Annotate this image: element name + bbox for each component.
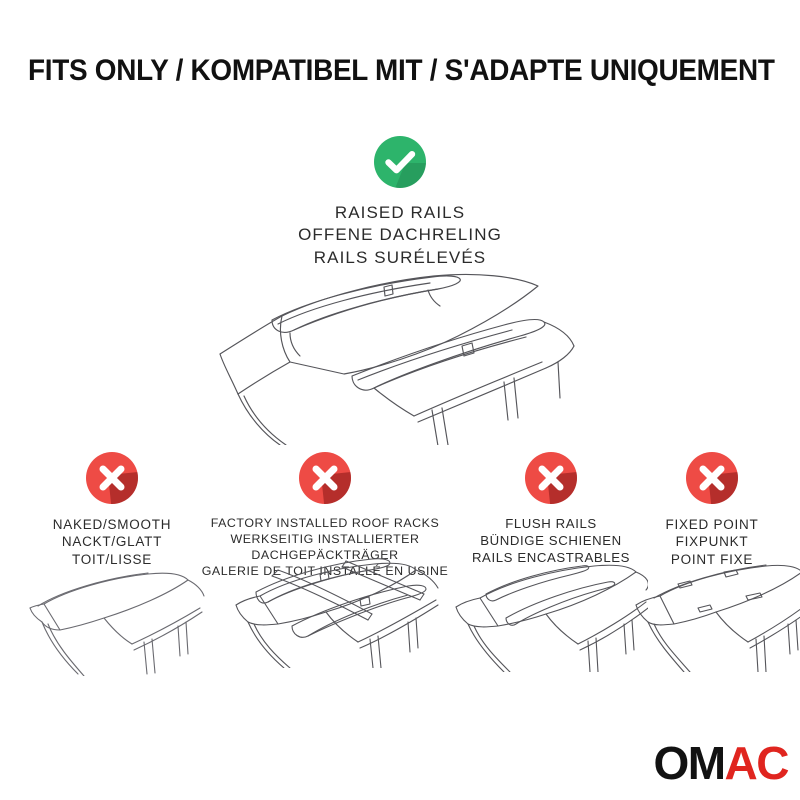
- compatible-label-fr: RAILS SURÉLEVÉS: [298, 247, 502, 269]
- x-circle-icon: [299, 452, 351, 504]
- compatible-group: RAISED RAILS OFFENE DACHRELING RAILS SUR…: [0, 136, 800, 269]
- omac-logo-red-part: AC: [725, 740, 788, 786]
- x-circle-icon: [686, 452, 738, 504]
- incompatible-label-en: NAKED/SMOOTH: [53, 516, 172, 533]
- incompatible-label-en: FLUSH RAILS: [472, 516, 630, 533]
- raised-rails-roof-illustration: [186, 270, 616, 445]
- compatible-label-en: RAISED RAILS: [298, 202, 502, 224]
- bare-roof-illustration: [8, 556, 208, 676]
- page-title: FITS ONLY / KOMPATIBEL MIT / S'ADAPTE UN…: [28, 54, 772, 88]
- compatible-labels: RAISED RAILS OFFENE DACHRELING RAILS SUR…: [298, 202, 502, 269]
- compatible-label-de: OFFENE DACHRELING: [298, 224, 502, 246]
- incompatible-label-en: FACTORY INSTALLED ROOF RACKS: [200, 516, 450, 532]
- x-circle-icon: [86, 452, 138, 504]
- fixed-points-roof-illustration: [620, 552, 800, 672]
- omac-logo: OMAC: [653, 740, 788, 786]
- incompatible-label-de: NACKT/GLATT: [53, 533, 172, 550]
- incompatible-group-flush-rails: FLUSH RAILS BÜNDIGE SCHIENEN RAILS ENCAS…: [452, 452, 650, 567]
- flush-rails-roof-illustration: [436, 552, 648, 672]
- factory-crossbars-roof-illustration: [212, 548, 444, 668]
- incompatible-label-en: FIXED POINT: [665, 516, 758, 533]
- incompatible-group-naked-smooth: NAKED/SMOOTH NACKT/GLATT TOIT/LISSE: [12, 452, 212, 568]
- check-circle-icon: [374, 136, 426, 188]
- omac-logo-dark-part: OM: [653, 740, 724, 786]
- incompatible-label-de: BÜNDIGE SCHIENEN: [472, 533, 630, 550]
- incompatible-label-de: FIXPUNKT: [665, 533, 758, 550]
- x-circle-icon: [525, 452, 577, 504]
- fitment-compatibility-sheet: FITS ONLY / KOMPATIBEL MIT / S'ADAPTE UN…: [0, 0, 800, 800]
- incompatible-group-fixed-point: FIXED POINT FIXPUNKT POINT FIXE: [632, 452, 792, 568]
